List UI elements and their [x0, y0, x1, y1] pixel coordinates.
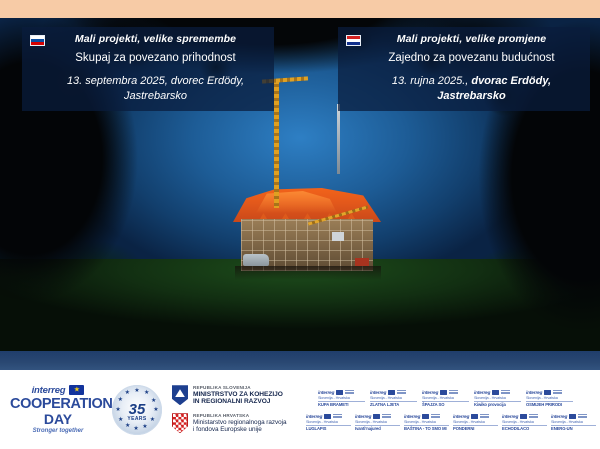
interreg-wordmark: interreg [422, 390, 438, 395]
headline-slovenian: Skupaj za povezano prihodnost [47, 52, 264, 65]
ministry-name-si-line1: MINISTRSTVO ZA KOHEZIJO [193, 391, 283, 399]
programme-logo-rules [397, 390, 406, 394]
venue-place-croatian: dvorac Erdödy, [471, 75, 551, 87]
project-name: PONDERNI [453, 427, 498, 432]
project-name: Ivanti'najured [355, 427, 400, 432]
programme-logo-header: interreg [502, 414, 547, 419]
eu-flag-icon [492, 390, 499, 395]
ministry-name-si-line2: IN REGIONALNI RAZVOJ [193, 398, 283, 406]
programme-subtitle: Slovenija - Hrvatska [551, 420, 596, 424]
eu-flag-icon [544, 390, 551, 395]
programme-logo-rules [333, 414, 342, 418]
slovenia-flag-icon [30, 35, 45, 46]
programme-logo: interregSlovenija - HrvatskaKUPA BRAMETI [318, 390, 365, 408]
programme-logo: interregSlovenija - HrvatskaPONDERNI [453, 414, 498, 432]
programme-logo-header: interreg [551, 414, 596, 419]
programme-subtitle: Slovenija - Hrvatska [370, 396, 417, 400]
programme-subtitle: Slovenija - Hrvatska [404, 420, 449, 424]
ministry-slovenia: REPUBLIKA SLOVENIJA MINISTRSTVO ZA KOHEZ… [172, 385, 287, 406]
project-name: BAŠTINA - TO SMO MI [404, 427, 449, 432]
croatia-coat-of-arms-icon [172, 413, 188, 433]
programme-logo: interregSlovenija - HrvatskaŠPAJZA SO [422, 390, 469, 408]
programme-logo-header: interreg [453, 414, 498, 419]
programme-logo-row-1: interregSlovenija - HrvatskaKUPA BRAMETI… [306, 390, 596, 408]
eu-flag-icon [324, 414, 331, 419]
cooperation-wordmark: COOPERATION [10, 397, 106, 412]
programme-subtitle: Slovenija - Hrvatska [355, 420, 400, 424]
programme-logo-header: interreg [370, 390, 417, 395]
programme-logo-rules [449, 390, 458, 394]
anniversary-label: YEARS [112, 416, 162, 422]
venue-city-croatian: Jastrebarsko [437, 90, 506, 102]
programme-logo: interregSlovenija - HrvatskaOSMIJEH PRIR… [526, 390, 573, 408]
project-name: OSMIJEH PRIRODI [526, 403, 573, 408]
venue-croatian: 13. rujna 2025., dvorac Erdödy, Jastreba… [363, 74, 580, 103]
interreg-wordmark: interreg [453, 414, 469, 419]
programme-logo-header: interreg [474, 390, 521, 395]
programme-logo: interregSlovenija - HrvatskaLUGLAPIS [306, 414, 351, 432]
stronger-together-tagline: Stronger together [10, 428, 106, 434]
interreg-wordmark: interreg [551, 414, 567, 419]
interreg-cooperation-day-logo: interreg COOPERATION DAY Stronger togeth… [10, 385, 106, 434]
programme-subtitle: Slovenija - Hrvatska [422, 396, 469, 400]
programme-logo-rules [578, 414, 587, 418]
programme-logo-header: interreg [355, 414, 400, 419]
tagline-slovenian: Mali projekti, velike spremembe [47, 33, 264, 45]
programme-logo-header: interreg [422, 390, 469, 395]
programme-logo-rules [345, 390, 354, 394]
project-name: ECHODILACO [502, 427, 547, 432]
interreg-wordmark: interreg [502, 414, 518, 419]
footer-logo-bar: interreg COOPERATION DAY Stronger togeth… [0, 370, 600, 449]
project-name: Kiwiko provocija [474, 403, 521, 408]
programme-logo: interregSlovenija - HrvatskaBAŠTINA - TO… [404, 414, 449, 432]
programme-subtitle: Slovenija - Hrvatska [318, 396, 365, 400]
interreg-wordmark: interreg [355, 414, 371, 419]
interreg-wordmark: interreg [526, 390, 542, 395]
programme-logo-header: interreg [526, 390, 573, 395]
text-panel-slovenian: Mali projekti, velike spremembe Skupaj z… [22, 27, 274, 111]
programme-subtitle: Slovenija - Hrvatska [502, 420, 547, 424]
eu-flag-icon [520, 414, 527, 419]
interreg-wordmark: interreg [474, 390, 490, 395]
programme-logo: interregSlovenija - HrvatskaZLATNA LJETA [370, 390, 417, 408]
programme-subtitle: Slovenija - Hrvatska [474, 396, 521, 400]
venue-date-slovenian: 13. septembra 2025, dvorec Erdödy, [67, 75, 244, 87]
eu-flag-icon [336, 390, 343, 395]
text-panel-croatian: Mali projekti, velike promjene Zajedno z… [338, 27, 590, 111]
programme-logo-rules [501, 390, 510, 394]
anniversary-badge-icon: ★★ ★★ ★★ ★★ ★★ ★★ 35 YEARS [112, 385, 162, 435]
croatia-flag-icon [346, 35, 361, 46]
headline-croatian: Zajedno za povezanu budućnost [363, 52, 580, 65]
interreg-wordmark: interreg [318, 390, 334, 395]
programme-logo-rules [480, 414, 489, 418]
programme-logo: interregSlovenija - HrvatskaKiwiko provo… [474, 390, 521, 408]
programme-logo: interregSlovenija - HrvatskaENERG-UN [551, 414, 596, 432]
footer-left-logos: interreg COOPERATION DAY Stronger togeth… [0, 370, 300, 449]
eu-flag-icon [471, 414, 478, 419]
programme-logo: interregSlovenija - HrvatskaECHODILACO [502, 414, 547, 432]
tagline-croatian: Mali projekti, velike promjene [363, 33, 580, 45]
programme-logo-rules [529, 414, 538, 418]
interreg-wordmark: interreg [32, 385, 66, 396]
cooperation-text: COOPERATION [10, 396, 112, 412]
venue-city-slovenian: Jastrebarsko [124, 90, 187, 102]
ministry-logos: REPUBLIKA SLOVENIJA MINISTRSTVO ZA KOHEZ… [172, 385, 287, 433]
programme-subtitle: Slovenija - Hrvatska [306, 420, 351, 424]
eu-flag-icon [422, 414, 429, 419]
project-name: ZLATNA LJETA [370, 403, 417, 408]
eu-flag-icon [388, 390, 395, 395]
project-name: KUPA BRAMETI [318, 403, 365, 408]
day-wordmark: DAY [10, 412, 106, 426]
venue-date-croatian: 13. rujna 2025., [392, 75, 472, 87]
eu-flag-icon [69, 385, 84, 395]
programme-partner-logos: interregSlovenija - HrvatskaKUPA BRAMETI… [300, 370, 600, 449]
venue-slovenian: 13. septembra 2025, dvorec Erdödy, Jastr… [47, 74, 264, 103]
programme-logo-header: interreg [404, 414, 449, 419]
programme-subtitle: Slovenija - Hrvatska [526, 396, 573, 400]
programme-logo: interregSlovenija - HrvatskaIvanti'najur… [355, 414, 400, 432]
programme-logo-rules [382, 414, 391, 418]
poster-root: Mali projekti, velike spremembe Skupaj z… [0, 0, 600, 449]
interreg-wordmark: interreg [370, 390, 386, 395]
ministry-croatia: REPUBLIKA HRVATSKA Ministarstvo regional… [172, 413, 287, 434]
programme-subtitle: Slovenija - Hrvatska [453, 420, 498, 424]
programme-logo-header: interreg [318, 390, 365, 395]
eu-flag-icon [373, 414, 380, 419]
programme-logo-header: interreg [306, 414, 351, 419]
interreg-wordmark: interreg [404, 414, 420, 419]
programme-logo-row-2: interregSlovenija - HrvatskaLUGLAPISinte… [306, 414, 596, 432]
eu-flag-icon [440, 390, 447, 395]
project-name: ENERG-UN [551, 427, 596, 432]
project-name: LUGLAPIS [306, 427, 351, 432]
ministry-name-hr-line1: Ministarstvo regionalnoga razvoja [193, 419, 287, 427]
eu-flag-icon [569, 414, 576, 419]
programme-logo-rules [553, 390, 562, 394]
ministry-name-hr-line2: i fondova Europske unije [193, 426, 287, 434]
slovenia-coat-of-arms-icon [172, 385, 188, 405]
project-name: ŠPAJZA SO [422, 403, 469, 408]
programme-logo-rules [431, 414, 440, 418]
separator-band [0, 351, 600, 370]
interreg-wordmark: interreg [306, 414, 322, 419]
